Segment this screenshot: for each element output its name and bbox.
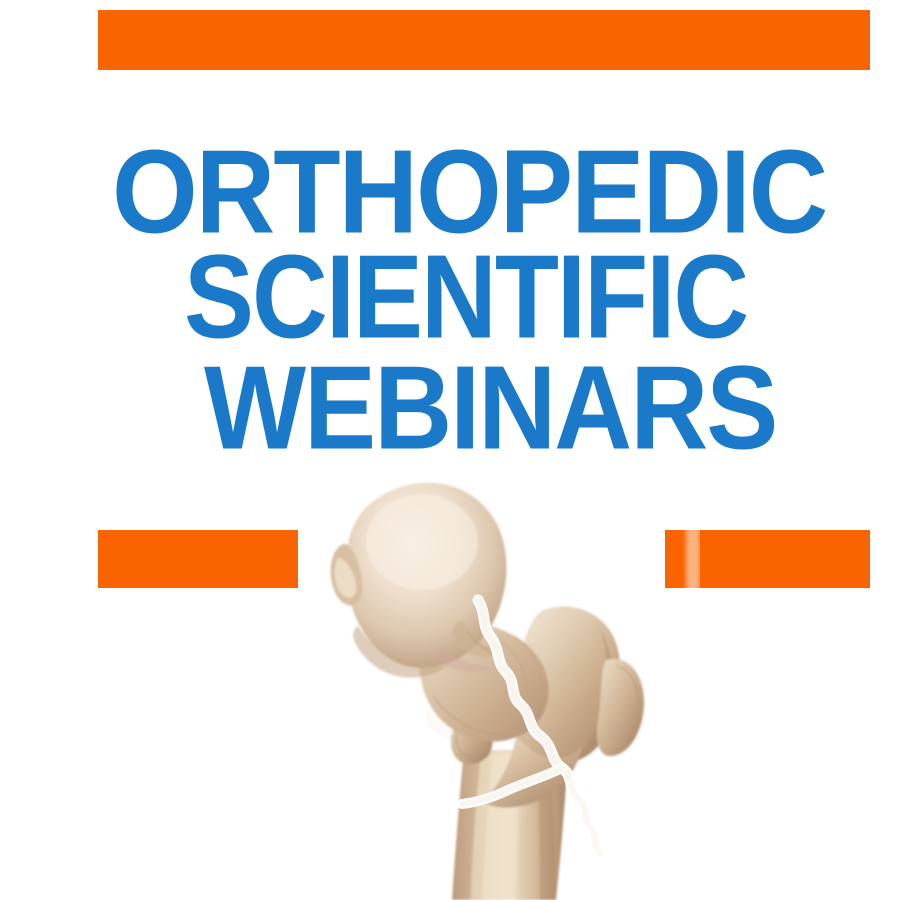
channel-banner: ORTHOPEDIC SCIENTIFIC WEBINARS	[0, 0, 900, 900]
accent-bar-middle-left	[98, 530, 298, 588]
wordmark: ORTHOPEDIC SCIENTIFIC WEBINARS	[0, 0, 900, 470]
title-line-orthopedic: ORTHOPEDIC	[112, 133, 826, 252]
accent-bar-top	[98, 10, 870, 70]
femur-bone-illustration	[310, 450, 700, 900]
femur-bone-svg	[310, 450, 700, 900]
title-line-scientific: SCIENTIFIC	[184, 238, 747, 357]
